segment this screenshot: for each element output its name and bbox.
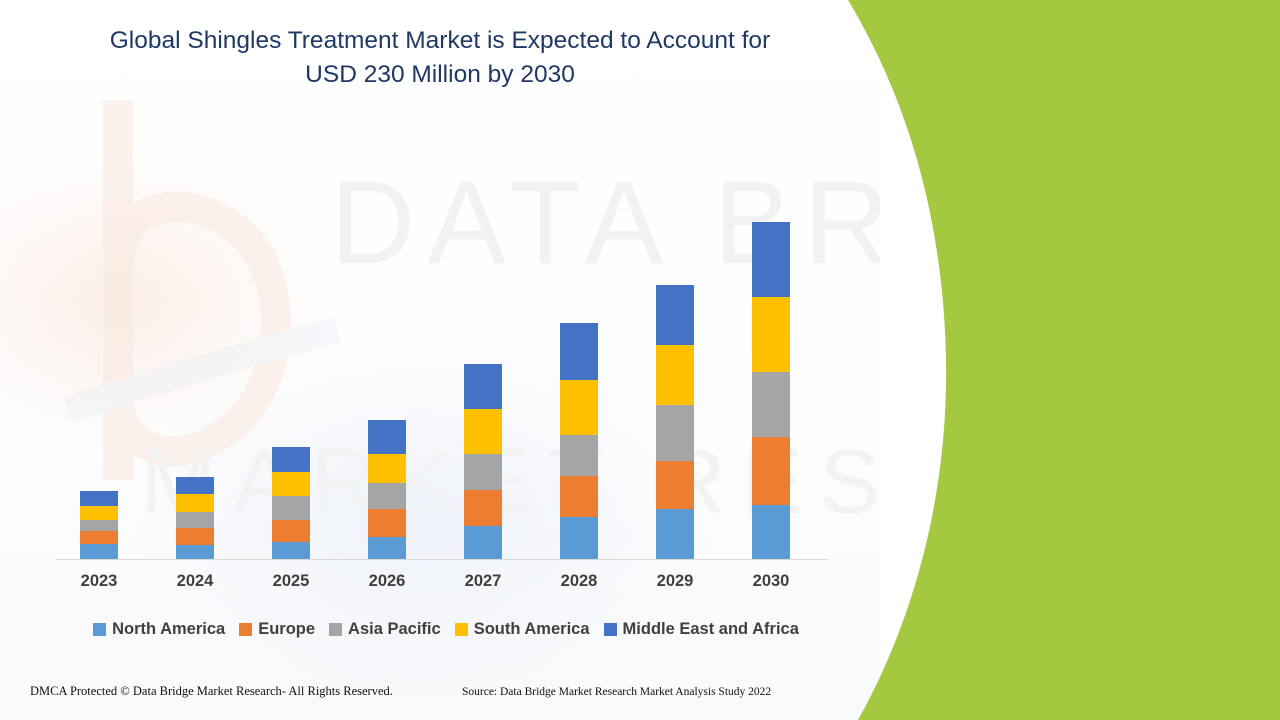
legend-label: Europe: [258, 620, 315, 639]
bar-segment: [176, 494, 214, 512]
brand-panel: Global Shingles Treatment Market, By Reg…: [830, 0, 1280, 720]
bar-segment: [464, 364, 502, 409]
legend-label: South America: [474, 620, 590, 639]
bar-segment: [656, 461, 694, 509]
infographic-canvas: DATA BRIDGE MARKET RESEARCH Global Shing…: [0, 0, 1280, 720]
legend-item-europe[interactable]: Europe: [239, 620, 315, 639]
bar-segment: [656, 405, 694, 461]
bar-segment: [80, 520, 118, 531]
bar-segment: [752, 505, 790, 559]
x-axis-label-2029: 2029: [637, 572, 713, 591]
bar-segment: [752, 437, 790, 505]
x-axis-label-2026: 2026: [349, 572, 425, 591]
x-axis-label-2030: 2030: [733, 572, 809, 591]
bar-segment: [272, 447, 310, 472]
bar-segment: [464, 526, 502, 559]
bar-segment: [464, 490, 502, 526]
bar-segment: [272, 542, 310, 559]
bar-2027: [464, 364, 502, 559]
bar-segment: [464, 409, 502, 454]
x-axis-label-2027: 2027: [445, 572, 521, 591]
page-title: Global Shingles Treatment Market is Expe…: [60, 24, 820, 92]
legend-item-asia-pacific[interactable]: Asia Pacific: [329, 620, 441, 639]
legend-label: North America: [112, 620, 225, 639]
bar-segment: [272, 496, 310, 520]
bar-2028: [560, 323, 598, 559]
legend-swatch-icon: [455, 623, 468, 636]
x-axis-label-2028: 2028: [541, 572, 617, 591]
title-line-2: USD 230 Million by 2030: [305, 61, 575, 88]
bar-segment: [560, 380, 598, 435]
title-line-1: Global Shingles Treatment Market is Expe…: [110, 27, 770, 54]
legend-swatch-icon: [604, 623, 617, 636]
footer: DMCA Protected © Data Bridge Market Rese…: [0, 681, 880, 709]
bar-segment: [560, 435, 598, 476]
bar-segment: [368, 420, 406, 454]
legend-swatch-icon: [93, 623, 106, 636]
bar-segment: [752, 372, 790, 437]
x-axis-line: [56, 559, 828, 560]
bar-segment: [80, 531, 118, 544]
bar-segment: [272, 520, 310, 542]
bar-segment: [80, 544, 118, 559]
footer-copyright: DMCA Protected © Data Bridge Market Rese…: [30, 684, 393, 699]
x-axis-label-2023: 2023: [61, 572, 137, 591]
bar-segment: [656, 285, 694, 345]
bar-segment: [752, 297, 790, 372]
x-axis-label-2024: 2024: [157, 572, 233, 591]
bar-segment: [752, 222, 790, 297]
bar-2029: [656, 285, 694, 559]
chart-legend: North AmericaEuropeAsia PacificSouth Ame…: [56, 616, 836, 642]
bar-segment: [176, 477, 214, 494]
x-axis-labels: 20232024202520262027202820292030: [56, 572, 828, 596]
bar-segment: [560, 323, 598, 380]
bar-segment: [464, 454, 502, 490]
footer-source: Source: Data Bridge Market Research Mark…: [462, 686, 771, 698]
bar-segment: [656, 345, 694, 405]
legend-item-south-america[interactable]: South America: [455, 620, 590, 639]
bar-segment: [80, 506, 118, 520]
bar-segment: [272, 472, 310, 496]
bar-segment: [176, 528, 214, 545]
bar-segment: [80, 491, 118, 506]
bar-segment: [368, 454, 406, 483]
bar-segment: [176, 512, 214, 528]
legend-item-middle-east-and-africa[interactable]: Middle East and Africa: [604, 620, 799, 639]
green-panel-shape: [830, 0, 1280, 720]
bar-segment: [656, 509, 694, 559]
chart-panel: DATA BRIDGE MARKET RESEARCH Global Shing…: [0, 0, 880, 720]
bar-2023: [80, 491, 118, 559]
x-axis-label-2025: 2025: [253, 572, 329, 591]
stacked-bar-chart: [56, 120, 828, 560]
bar-segment: [368, 537, 406, 559]
legend-label: Asia Pacific: [348, 620, 441, 639]
bar-segment: [560, 476, 598, 517]
bar-segment: [368, 509, 406, 537]
bar-segment: [368, 483, 406, 509]
legend-swatch-icon: [329, 623, 342, 636]
bar-2025: [272, 447, 310, 559]
bar-2026: [368, 420, 406, 559]
bar-segment: [560, 517, 598, 559]
bar-2024: [176, 477, 214, 559]
legend-item-north-america[interactable]: North America: [93, 620, 225, 639]
bar-2030: [752, 222, 790, 559]
legend-swatch-icon: [239, 623, 252, 636]
bar-segment: [176, 545, 214, 559]
legend-label: Middle East and Africa: [623, 620, 799, 639]
